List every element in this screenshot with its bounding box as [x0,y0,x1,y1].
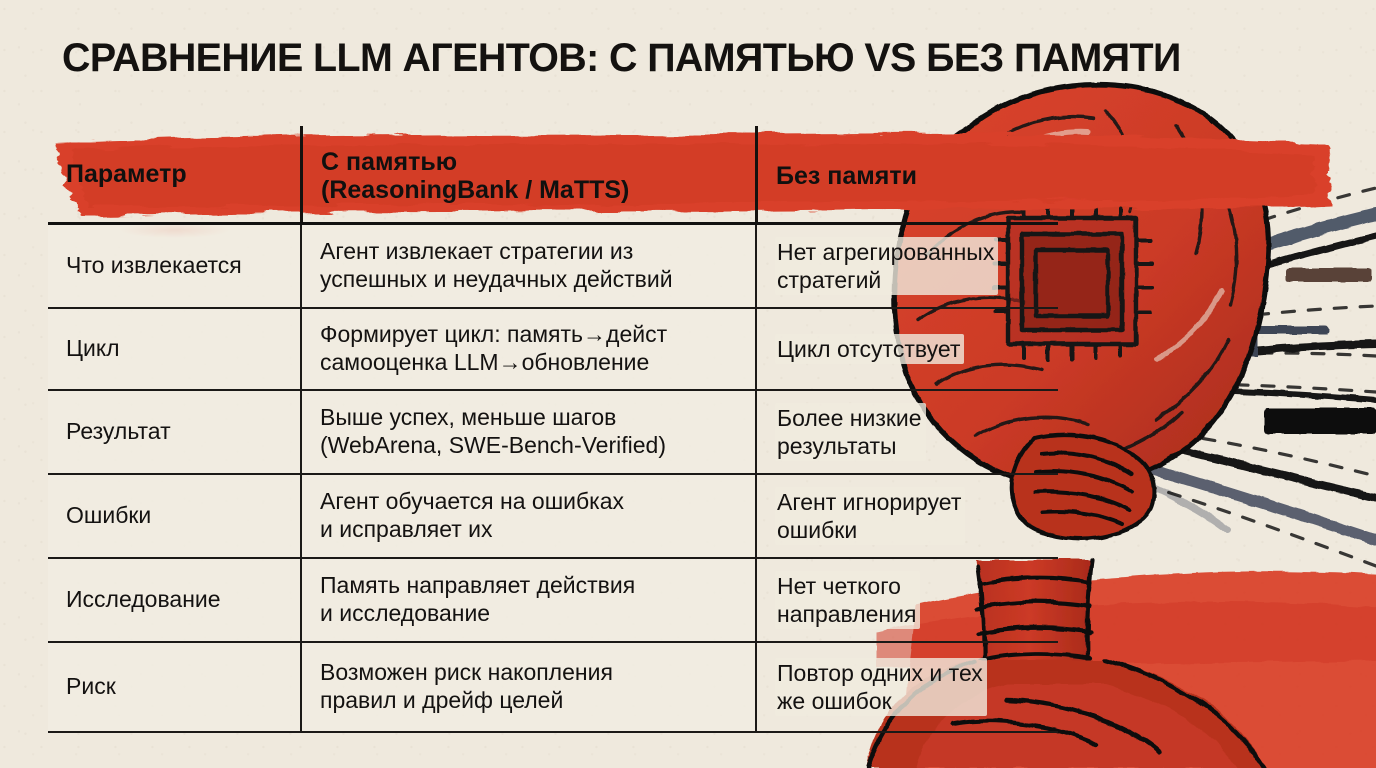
header-cell-with-memory: С памятью (ReasoningBank / MaTTS) [300,126,755,222]
header-cell-parameter: Параметр [48,126,300,222]
data-flow-dashes [1092,188,1376,566]
row-parameter-cell: Что извлекается [48,225,300,307]
table-row: Риск Возможен риск накопления правил и д… [48,643,1058,733]
table-body: Что извлекается Агент извлекает стратеги… [48,225,1058,733]
header-label-with-memory-line1: С памятью [321,148,457,176]
row-parameter-cell: Исследование [48,559,300,641]
table-row: Результат Выше успех, меньше шагов (WebA… [48,391,1058,475]
header-label-without-memory: Без памяти [776,162,917,190]
row-with-memory-cell: Формирует цикл: память→дейст самооценка … [300,309,755,389]
ink-accent-marks [1182,268,1376,448]
page-title: СРАВНЕНИЕ LLM АГЕНТОВ: С ПАМЯТЬЮ VS БЕЗ … [62,36,1181,81]
row-with-memory-cell: Возможен риск накопления правил и дрейф … [300,643,755,731]
header-label-with-memory-line2: (ReasoningBank / MaTTS) [321,176,629,204]
table-row: Что извлекается Агент извлекает стратеги… [48,225,1058,309]
header-label-parameter: Параметр [66,160,187,188]
row-parameter-cell: Риск [48,643,300,731]
row-without-memory-cell: Нет четкого направления [755,559,1058,641]
row-without-memory-cell: Повтор одних и тех же ошибок [755,643,1058,731]
row-with-memory-cell: Агент извлекает стратегии из успешных и … [300,225,755,307]
table-row: Ошибки Агент обучается на ошибках и испр… [48,475,1058,559]
row-with-memory-cell: Выше успех, меньше шагов (WebArena, SWE-… [300,391,755,473]
row-parameter-cell: Ошибки [48,475,300,557]
row-without-memory-cell: Цикл отсутствует [755,309,1058,389]
table-row: Исследование Память направляет действия … [48,559,1058,643]
table-row: Цикл Формирует цикл: память→дейст самооц… [48,309,1058,391]
cable-bundle [1092,214,1376,540]
row-without-memory-cell: Более низкие результаты [755,391,1058,473]
row-with-memory-cell: Память направляет действия и исследовани… [300,559,755,641]
table-header: Параметр С памятью (ReasoningBank / MaTT… [48,126,1058,222]
comparison-table: Параметр С памятью (ReasoningBank / MaTT… [48,126,1058,733]
header-label-with-memory: С памятью (ReasoningBank / MaTTS) [321,148,629,204]
header-cell-without-memory: Без памяти [755,126,1058,222]
row-with-memory-cell: Агент обучается на ошибках и исправляет … [300,475,755,557]
row-parameter-cell: Цикл [48,309,300,389]
row-without-memory-cell: Агент игнорирует ошибки [755,475,1058,557]
row-without-memory-cell: Нет агрегированных стратегий [755,225,1058,307]
row-parameter-cell: Результат [48,391,300,473]
